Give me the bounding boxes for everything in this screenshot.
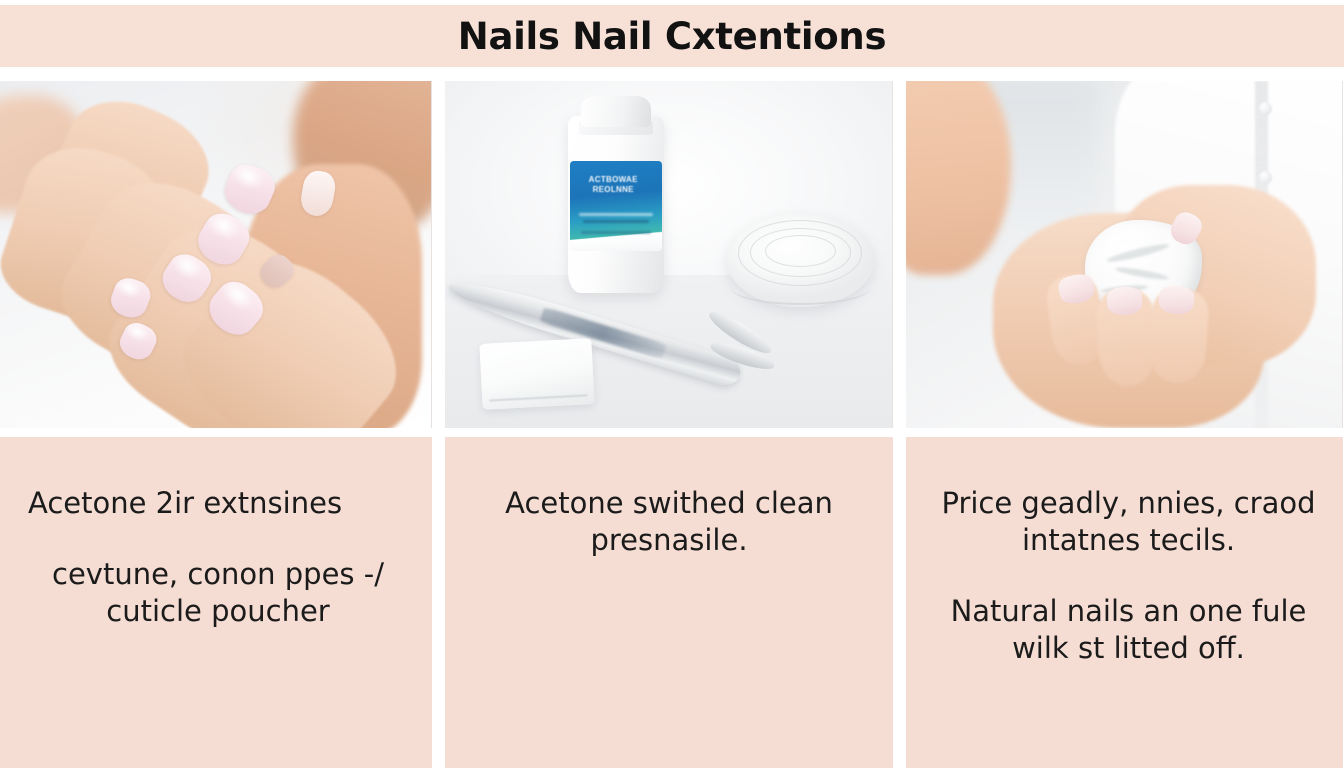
bottle-label-text: ACTBOWAE REOLNNE [577,175,650,194]
square-cotton-pad [479,338,594,410]
panel-2-caption: Acetone swithed clean presnasile. [445,437,893,768]
caption-text: cevtune, conon ppes -/ cuticle poucher [28,556,408,630]
panel-3-photo [906,81,1343,428]
acetone-bottle-label: ACTBOWAE REOLNNE [570,161,662,251]
panel-gutter-2 [893,81,906,768]
panel-3-divider [906,428,1343,437]
label-line [581,231,651,234]
panel-1-photo [0,81,432,428]
header-bottom-gap [0,67,1344,81]
panel-acetone-supplies: ACTBOWAE REOLNNE A [445,81,893,768]
caption-text: Acetone swithed clean presnasile. [479,485,859,559]
panel-1-caption: Acetone 2ir extnsines cevtune, conon ppe… [0,437,432,768]
infographic-root: Nails Nail Cxtentions [0,0,1344,768]
page-title: Nails Nail Cxtentions [458,18,886,55]
cotton-pads-stack [727,213,875,307]
panel-2-divider [445,428,893,437]
fingernail [1158,284,1196,315]
cotton-fold [1115,266,1169,282]
removal-supplies-image: ACTBOWAE REOLNNE [445,81,892,428]
panel-acetone-hands: Acetone 2ir extnsines cevtune, conon ppe… [0,81,432,768]
panel-row: Acetone 2ir extnsines cevtune, conon ppe… [0,81,1344,768]
cotton-in-hands-image [906,81,1342,428]
caption-text: Natural nails an one fule wilk st litted… [936,593,1321,667]
cotton-fold [1106,241,1170,264]
manicured-hands-image [0,81,431,428]
cotton-pad-edge [730,269,872,305]
panel-3-caption: Price geadly, nnies, craod intatnes teci… [906,437,1343,768]
fingernail [1106,287,1142,316]
label-line [579,213,652,216]
shirt-button [1259,102,1272,115]
caption-text: Acetone 2ir extnsines [28,485,408,522]
acetone-bottle-cap [581,96,650,127]
panel-gutter-1 [432,81,445,768]
caption-text: Price geadly, nnies, craod intatnes teci… [936,485,1321,559]
label-line [583,220,649,223]
pad-fold [489,395,587,402]
panel-1-divider [0,428,432,437]
panel-cotton-wipe: Price geadly, nnies, craod intatnes teci… [906,81,1343,768]
panel-2-photo: ACTBOWAE REOLNNE [445,81,893,428]
cotton-pad-ring [765,235,836,267]
header-band: Nails Nail Cxtentions [0,5,1344,67]
